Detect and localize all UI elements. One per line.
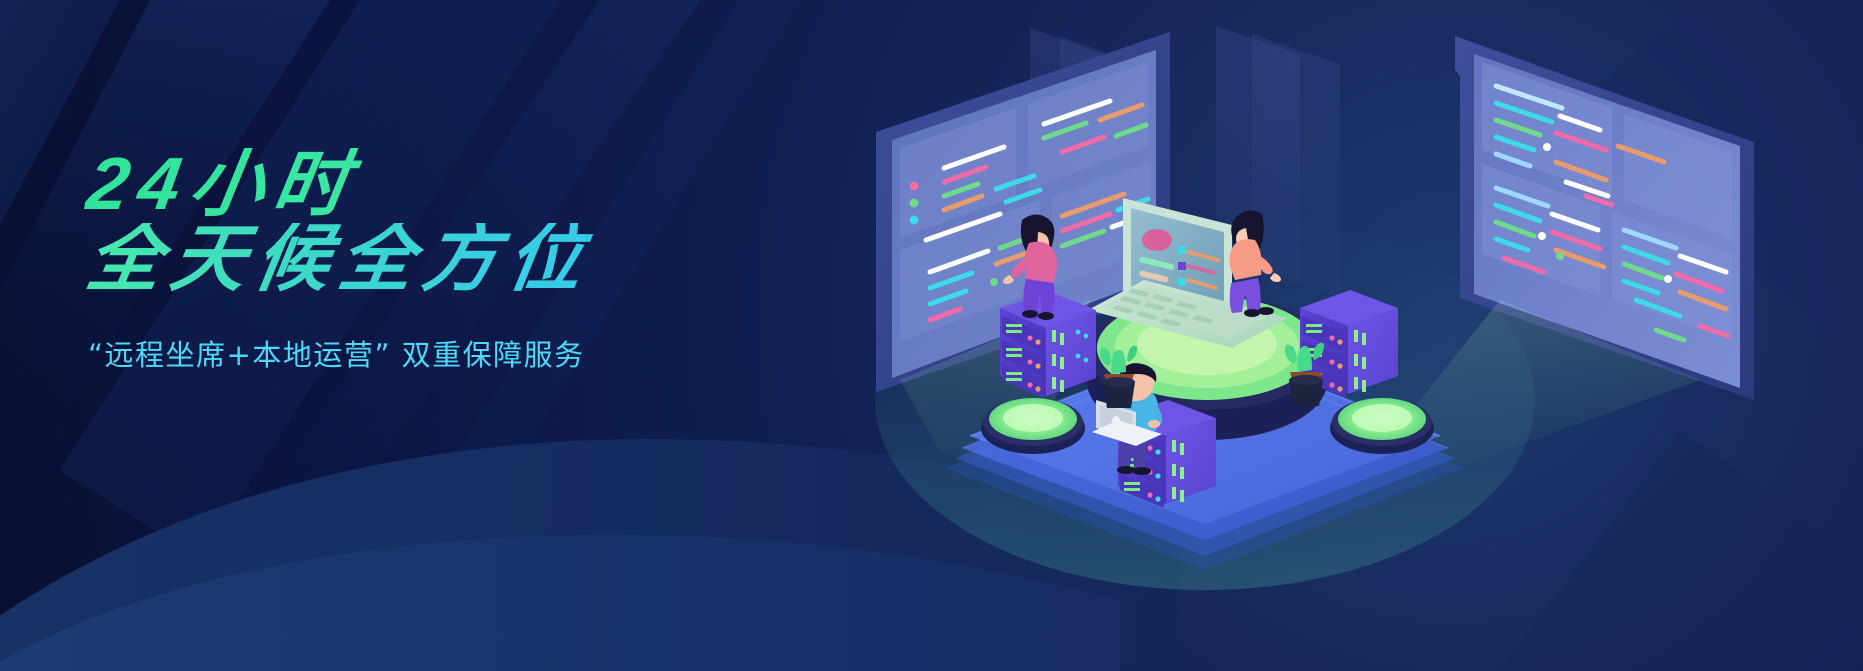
glow-pad-right: [1330, 398, 1434, 454]
hero-banner: 24小时 全天候全方位 “远程坐席+本地运营” 双重保障服务: [0, 0, 1863, 671]
headline-line-2: 全天候全方位: [82, 223, 813, 294]
hero-subtitle: “远程坐席+本地运营” 双重保障服务: [88, 332, 808, 374]
cactus-plant-left: [1100, 346, 1137, 408]
glow-pad-left: [981, 398, 1085, 454]
hero-text-block: 24小时 全天候全方位 “远程坐席+本地运营” 双重保障服务: [88, 148, 808, 374]
headline-line-1: 24小时: [82, 148, 813, 219]
